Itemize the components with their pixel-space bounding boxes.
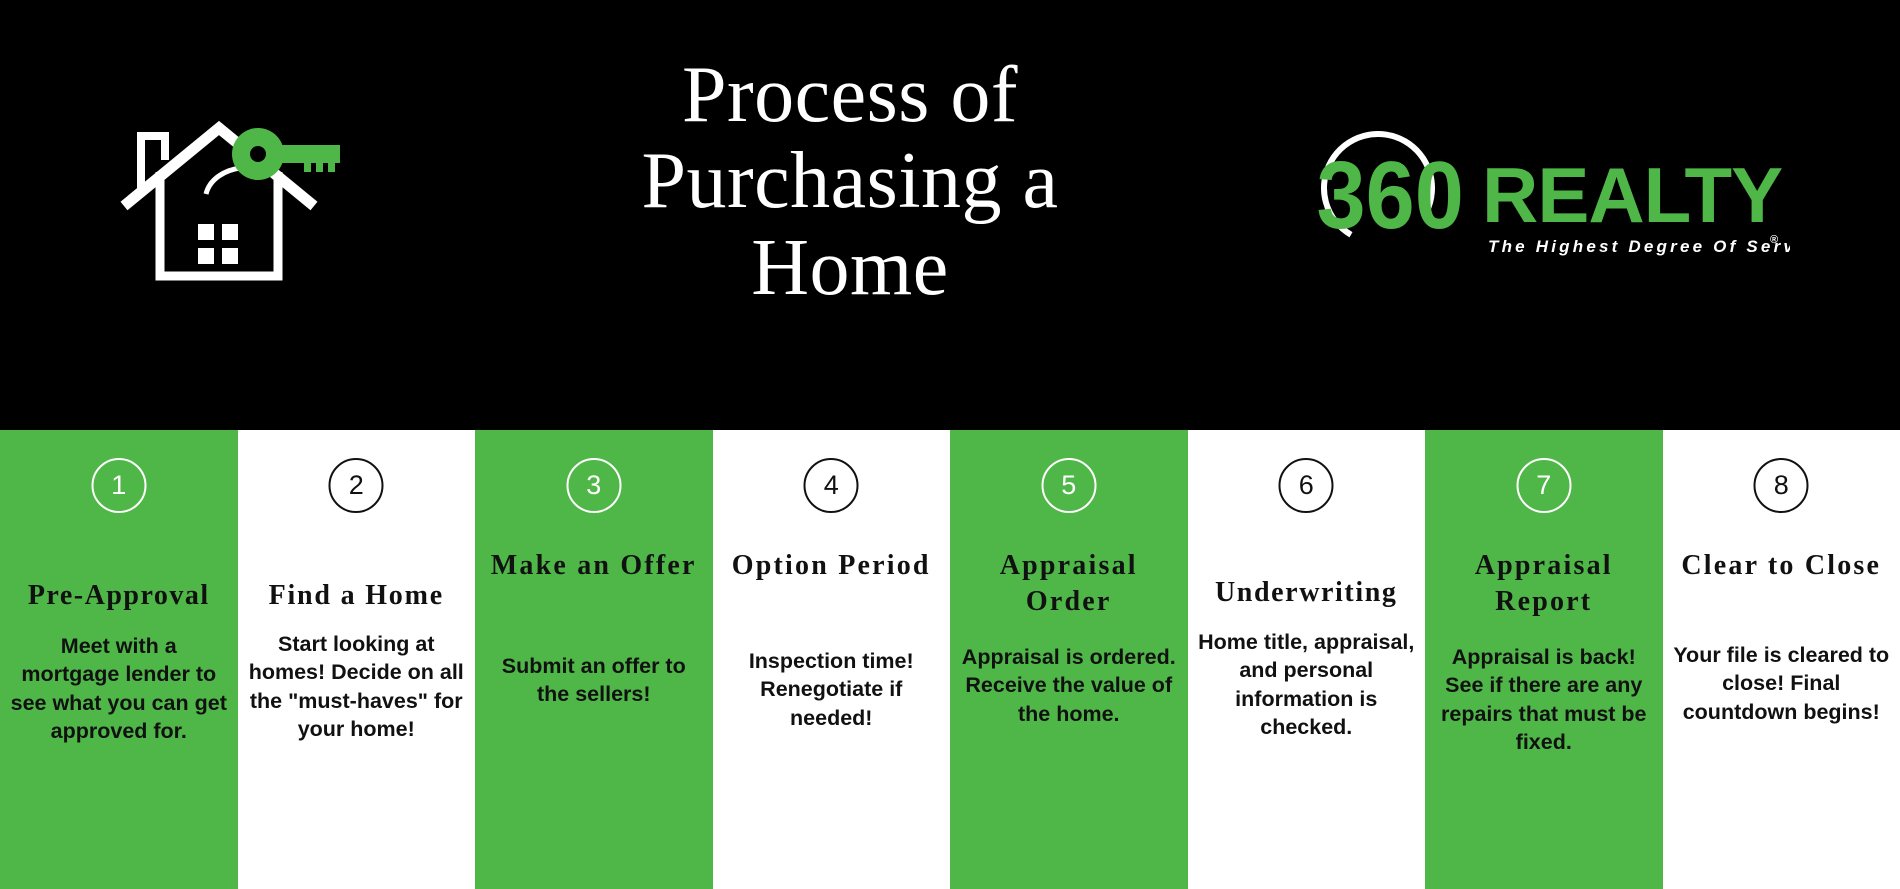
step-number: 1 bbox=[111, 472, 126, 499]
step-card-4[interactable]: 4 Option Period Inspection time! Renegot… bbox=[713, 430, 951, 889]
step-description: Submit an offer to the sellers! bbox=[475, 652, 713, 709]
step-number: 8 bbox=[1774, 472, 1789, 499]
process-steps-strip: 1 Pre-Approval Meet with a mortgage lend… bbox=[0, 430, 1900, 889]
step-card-2[interactable]: 2 Find a Home Start looking at homes! De… bbox=[238, 430, 476, 889]
logo-360-text: 360 bbox=[1317, 142, 1464, 249]
step-description: Appraisal is ordered. Receive the value … bbox=[950, 643, 1188, 728]
step-number: 5 bbox=[1061, 472, 1076, 499]
step-description: Inspection time! Renegotiate if needed! bbox=[713, 647, 951, 732]
step-number-badge: 8 bbox=[1754, 458, 1809, 513]
step-description: Your file is cleared to close! Final cou… bbox=[1663, 641, 1900, 726]
step-description: Meet with a mortgage lender to see what … bbox=[0, 632, 238, 746]
step-number-badge: 3 bbox=[566, 458, 621, 513]
company-logo: 360 REALTY The Highest Degree Of Service… bbox=[1300, 130, 1790, 270]
step-number-badge: 4 bbox=[804, 458, 859, 513]
step-number-badge: 7 bbox=[1516, 458, 1571, 513]
step-heading: Clear to Close bbox=[1663, 548, 1900, 584]
page-title: Process of Purchasing a Home bbox=[560, 52, 1140, 311]
step-heading: Appraisal Order bbox=[950, 548, 1188, 620]
step-heading: Find a Home bbox=[238, 578, 476, 614]
step-heading: Appraisal Report bbox=[1425, 548, 1663, 620]
infographic-header: Process of Purchasing a Home 360 REALTY … bbox=[0, 0, 1900, 430]
title-line-1: Process of bbox=[560, 52, 1140, 138]
step-number-badge: 6 bbox=[1279, 458, 1334, 513]
step-card-1[interactable]: 1 Pre-Approval Meet with a mortgage lend… bbox=[0, 430, 238, 889]
step-card-7[interactable]: 7 Appraisal Report Appraisal is back! Se… bbox=[1425, 430, 1663, 889]
logo-tagline-text: The Highest Degree Of Service bbox=[1488, 237, 1790, 256]
step-card-5[interactable]: 5 Appraisal Order Appraisal is ordered. … bbox=[950, 430, 1188, 889]
step-number-badge: 5 bbox=[1041, 458, 1096, 513]
step-number-badge: 1 bbox=[91, 458, 146, 513]
step-heading: Pre-Approval bbox=[0, 578, 238, 614]
step-number: 4 bbox=[824, 472, 839, 499]
step-card-6[interactable]: 6 Underwriting Home title, appraisal, an… bbox=[1188, 430, 1426, 889]
step-number: 6 bbox=[1299, 472, 1314, 499]
step-description: Start looking at homes! Decide on all th… bbox=[238, 630, 476, 744]
step-heading: Make an Offer bbox=[475, 548, 713, 584]
logo-realty-text: REALTY bbox=[1482, 151, 1782, 239]
step-description: Appraisal is back! See if there are any … bbox=[1425, 643, 1663, 757]
title-line-3: Home bbox=[560, 225, 1140, 311]
step-description: Home title, appraisal, and personal info… bbox=[1188, 628, 1426, 742]
step-number-badge: 2 bbox=[329, 458, 384, 513]
logo-registered-icon: ® bbox=[1770, 234, 1778, 246]
step-number: 7 bbox=[1536, 472, 1551, 499]
title-line-2: Purchasing a bbox=[560, 138, 1140, 224]
step-number: 2 bbox=[349, 472, 364, 499]
step-heading: Underwriting bbox=[1188, 575, 1426, 611]
house-with-key-icon bbox=[118, 98, 348, 288]
step-card-8[interactable]: 8 Clear to Close Your file is cleared to… bbox=[1663, 430, 1900, 889]
step-number: 3 bbox=[586, 472, 601, 499]
step-card-3[interactable]: 3 Make an Offer Submit an offer to the s… bbox=[475, 430, 713, 889]
step-heading: Option Period bbox=[713, 548, 951, 584]
